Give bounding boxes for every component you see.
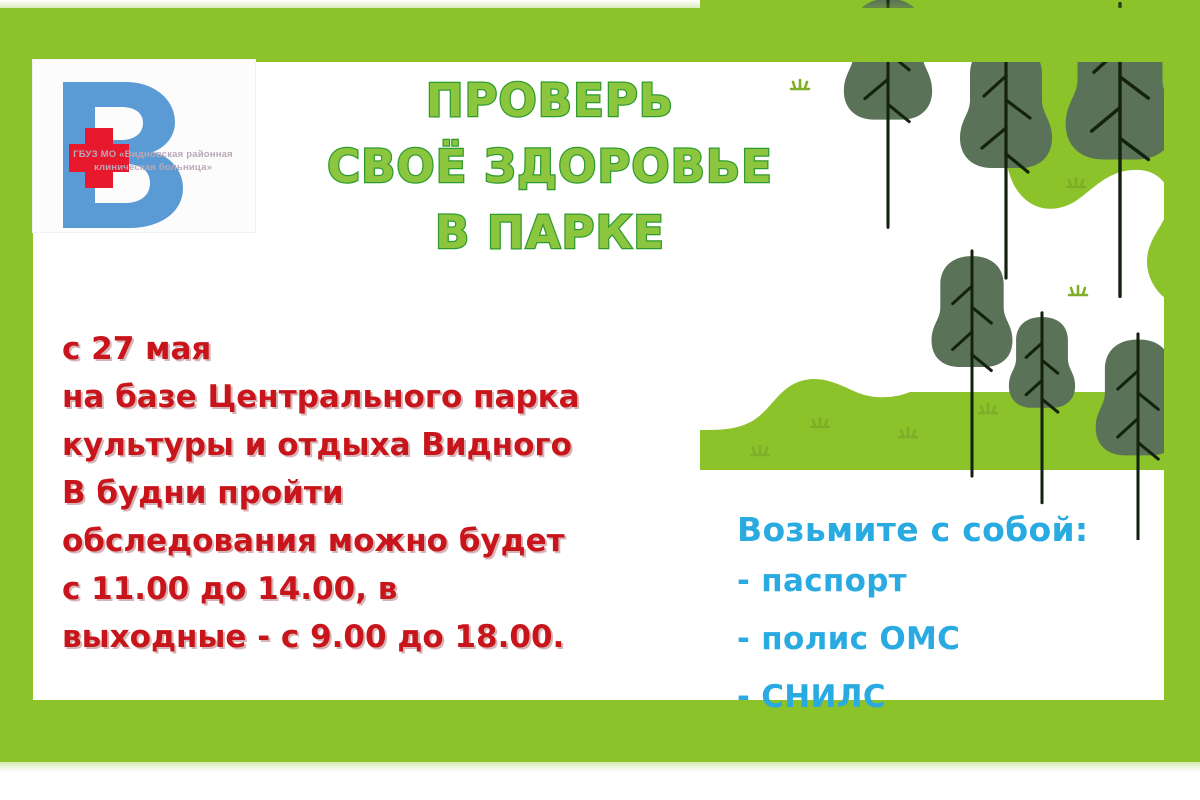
hospital-logo: ГБУЗ МО «Видновская районная клиническая… <box>33 60 255 232</box>
hospital-logo-mark <box>33 60 255 232</box>
frame-top <box>0 8 1200 62</box>
tree-5 <box>1009 313 1075 503</box>
bring-with-you-title: Возьмите с собой: <box>737 508 1157 552</box>
tree-illustrations <box>820 0 1200 540</box>
tree-4 <box>932 251 1013 476</box>
frame-left <box>0 8 33 762</box>
bring-item-oms-policy: - полис ОМС <box>737 610 1157 668</box>
frame-bottom-fade <box>0 762 1200 772</box>
announcement-text: с 27 мая на базе Центрального парка куль… <box>62 325 682 661</box>
page-title: ПРОВЕРЬ СВОЁ ЗДОРОВЬЕ В ПАРКЕ <box>300 68 800 266</box>
bring-item-passport: - паспорт <box>737 552 1157 610</box>
tree-2 <box>960 36 1052 278</box>
bring-item-snils: - СНИЛС <box>737 668 1157 726</box>
hospital-logo-caption: ГБУЗ МО «Видновская районная клиническая… <box>73 148 233 174</box>
poster-canvas: ГБУЗ МО «Видновская районная клиническая… <box>0 0 1200 800</box>
frame-right <box>1164 8 1200 762</box>
frame-top-fade <box>0 0 1200 8</box>
bring-with-you-block: Возьмите с собой: - паспорт - полис ОМС … <box>737 508 1157 726</box>
